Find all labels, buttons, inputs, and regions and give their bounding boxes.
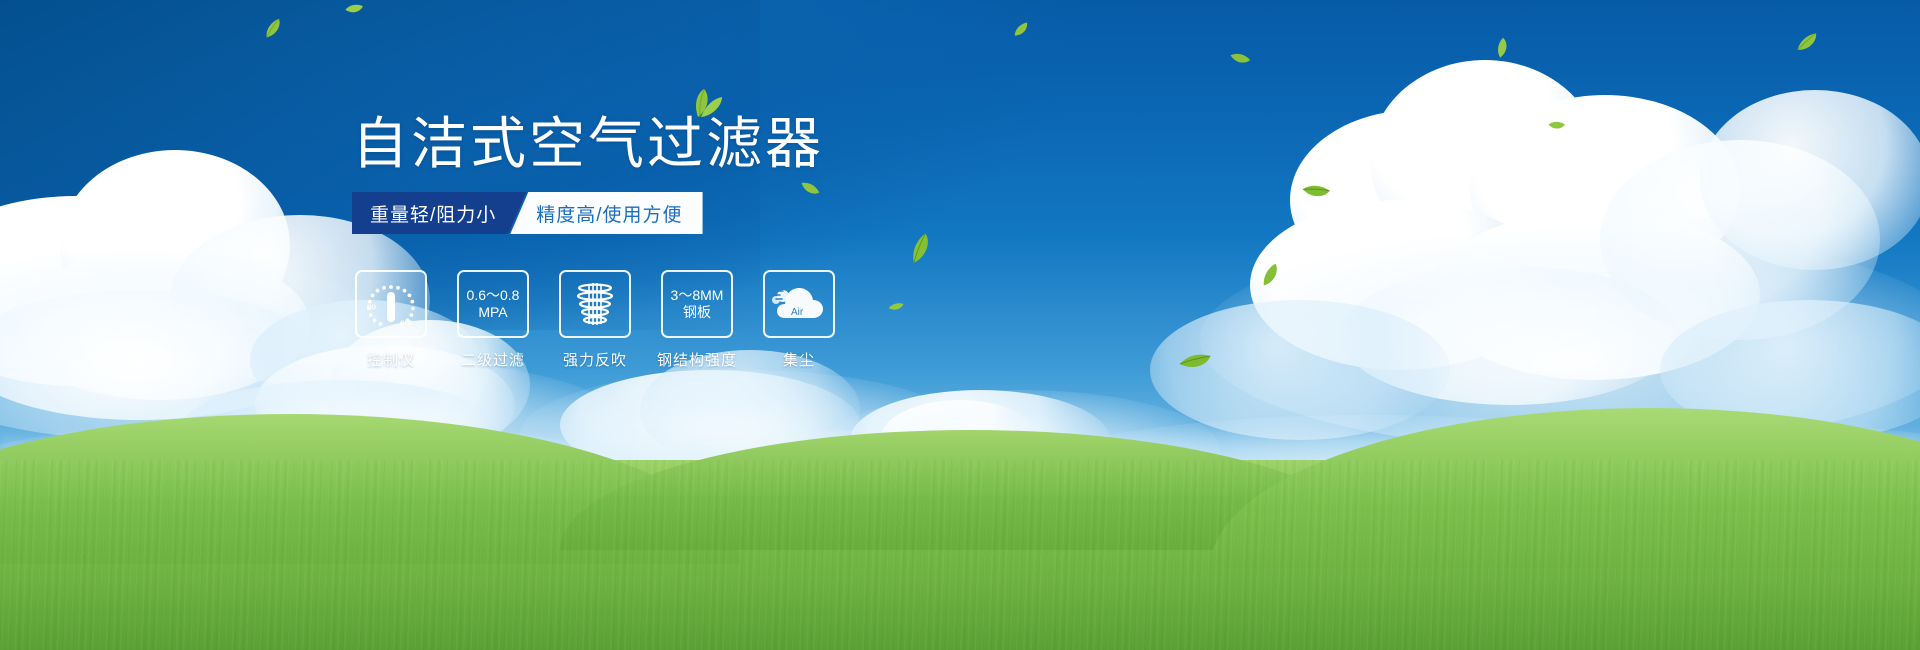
- feature-item-blowback[interactable]: 强力反吹: [559, 270, 631, 370]
- feature-item-dust-collection[interactable]: Air 集尘: [763, 270, 835, 370]
- feature-item-filtration[interactable]: 0.6～0.8 MPA 二级过滤: [457, 270, 529, 370]
- banner-stage: 自洁式空气过滤器 重量轻/阻力小 精度高/使用方便: [0, 0, 1920, 650]
- feature-item-steel-structure[interactable]: 3～8MM 钢板 钢结构强度: [661, 270, 733, 370]
- gauge-icon: NO OFF: [364, 280, 418, 328]
- feature-label-dust-collection: 集尘: [783, 349, 815, 370]
- pressure-unit-text: MPA: [478, 304, 507, 321]
- badge-weight-resistance[interactable]: 重量轻/阻力小: [352, 192, 526, 234]
- feature-label-blowback: 强力反吹: [563, 349, 627, 370]
- badge-row: 重量轻/阻力小 精度高/使用方便: [352, 192, 703, 234]
- dust-cloud-icon: Air: [771, 282, 827, 326]
- feature-item-controller[interactable]: NO OFF 控制仪: [355, 270, 427, 370]
- gauge-on-label: NO: [367, 305, 376, 311]
- steel-plate-text: 钢板: [683, 304, 711, 321]
- blowback-icon: [570, 279, 620, 329]
- feature-box-filtration: 0.6～0.8 MPA: [457, 270, 529, 338]
- page-title: 自洁式空气过滤器: [352, 113, 824, 175]
- feature-box-blowback: [559, 270, 631, 338]
- feature-row: NO OFF 控制仪 0.6～0.8 MPA 二级过滤: [355, 270, 835, 370]
- feature-label-controller: 控制仪: [367, 349, 415, 370]
- steel-thickness-text: 3～8MM: [671, 287, 724, 304]
- air-label: Air: [791, 307, 804, 318]
- feature-box-dust-collection: Air: [763, 270, 835, 338]
- badge-precision-convenience[interactable]: 精度高/使用方便: [510, 192, 702, 234]
- pressure-range-text: 0.6～0.8: [467, 287, 520, 304]
- feature-box-controller: NO OFF: [355, 270, 427, 338]
- feature-label-steel-structure: 钢结构强度: [657, 349, 737, 370]
- gauge-off-label: OFF: [400, 321, 412, 327]
- feature-label-filtration: 二级过滤: [461, 349, 525, 370]
- feature-box-steel-structure: 3～8MM 钢板: [661, 270, 733, 338]
